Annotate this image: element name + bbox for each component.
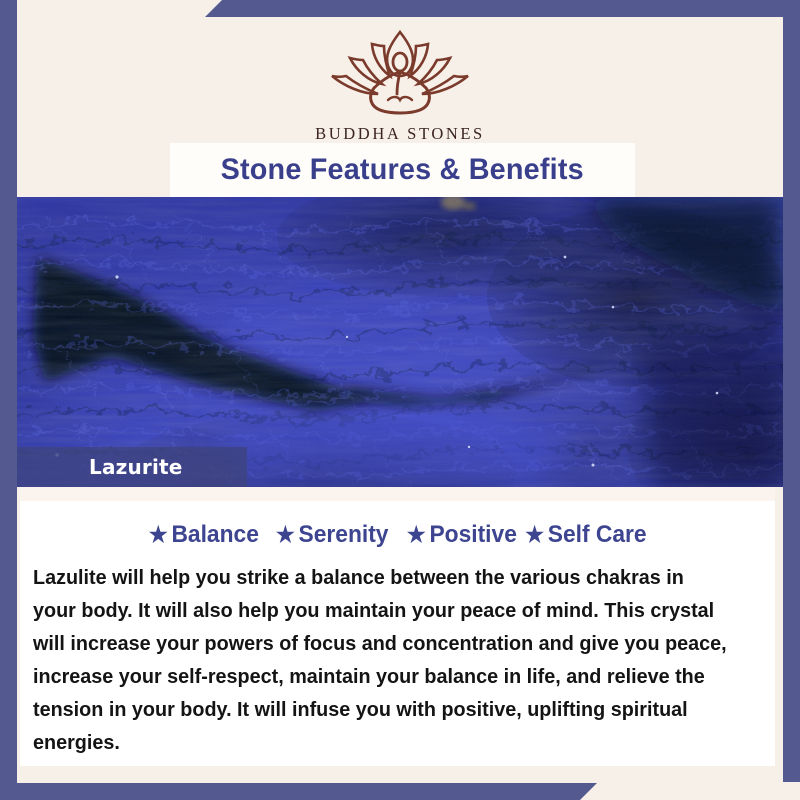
keyword-row: ★ Balance ★ Serenity ★ Positive ★ Self C… xyxy=(20,521,775,549)
stone-info-poster: BUDDHA STONES Stone Features & Benefits xyxy=(0,0,800,800)
panel-top-tint xyxy=(20,487,775,501)
star-icon: ★ xyxy=(407,524,426,546)
keyword-label: Positive xyxy=(429,521,516,549)
star-icon: ★ xyxy=(148,524,167,546)
lotus-meditation-icon xyxy=(310,24,490,120)
title-plaque: Stone Features & Benefits xyxy=(170,143,635,197)
keyword-positive: ★ Positive xyxy=(407,521,517,549)
keyword-serenity: ★ Serenity xyxy=(276,521,389,549)
stone-description: Lazulite will help you strike a balance … xyxy=(33,561,730,759)
star-icon: ★ xyxy=(276,524,295,546)
star-icon: ★ xyxy=(525,524,544,546)
content-panel: ★ Balance ★ Serenity ★ Positive ★ Self C… xyxy=(20,487,775,766)
keyword-label: Balance xyxy=(171,521,258,549)
keyword-label: Serenity xyxy=(299,521,389,549)
stone-texture-graphic xyxy=(17,197,783,487)
stone-name-label: Lazurite xyxy=(89,455,183,479)
bottom-navy-banner xyxy=(0,783,800,800)
stone-description-text: Lazulite will help you strike a balance … xyxy=(33,561,730,759)
brand-logo-block: BUDDHA STONES xyxy=(0,24,800,144)
keyword-self-care: ★ Self Care xyxy=(525,521,646,549)
stone-name-chip: Lazurite xyxy=(17,447,247,487)
keyword-balance: ★ Balance xyxy=(148,521,258,549)
brand-name: BUDDHA STONES xyxy=(0,124,800,144)
keyword-label: Self Care xyxy=(547,521,646,549)
page-title: Stone Features & Benefits xyxy=(221,153,584,187)
lazurite-stone-photo xyxy=(17,197,783,487)
